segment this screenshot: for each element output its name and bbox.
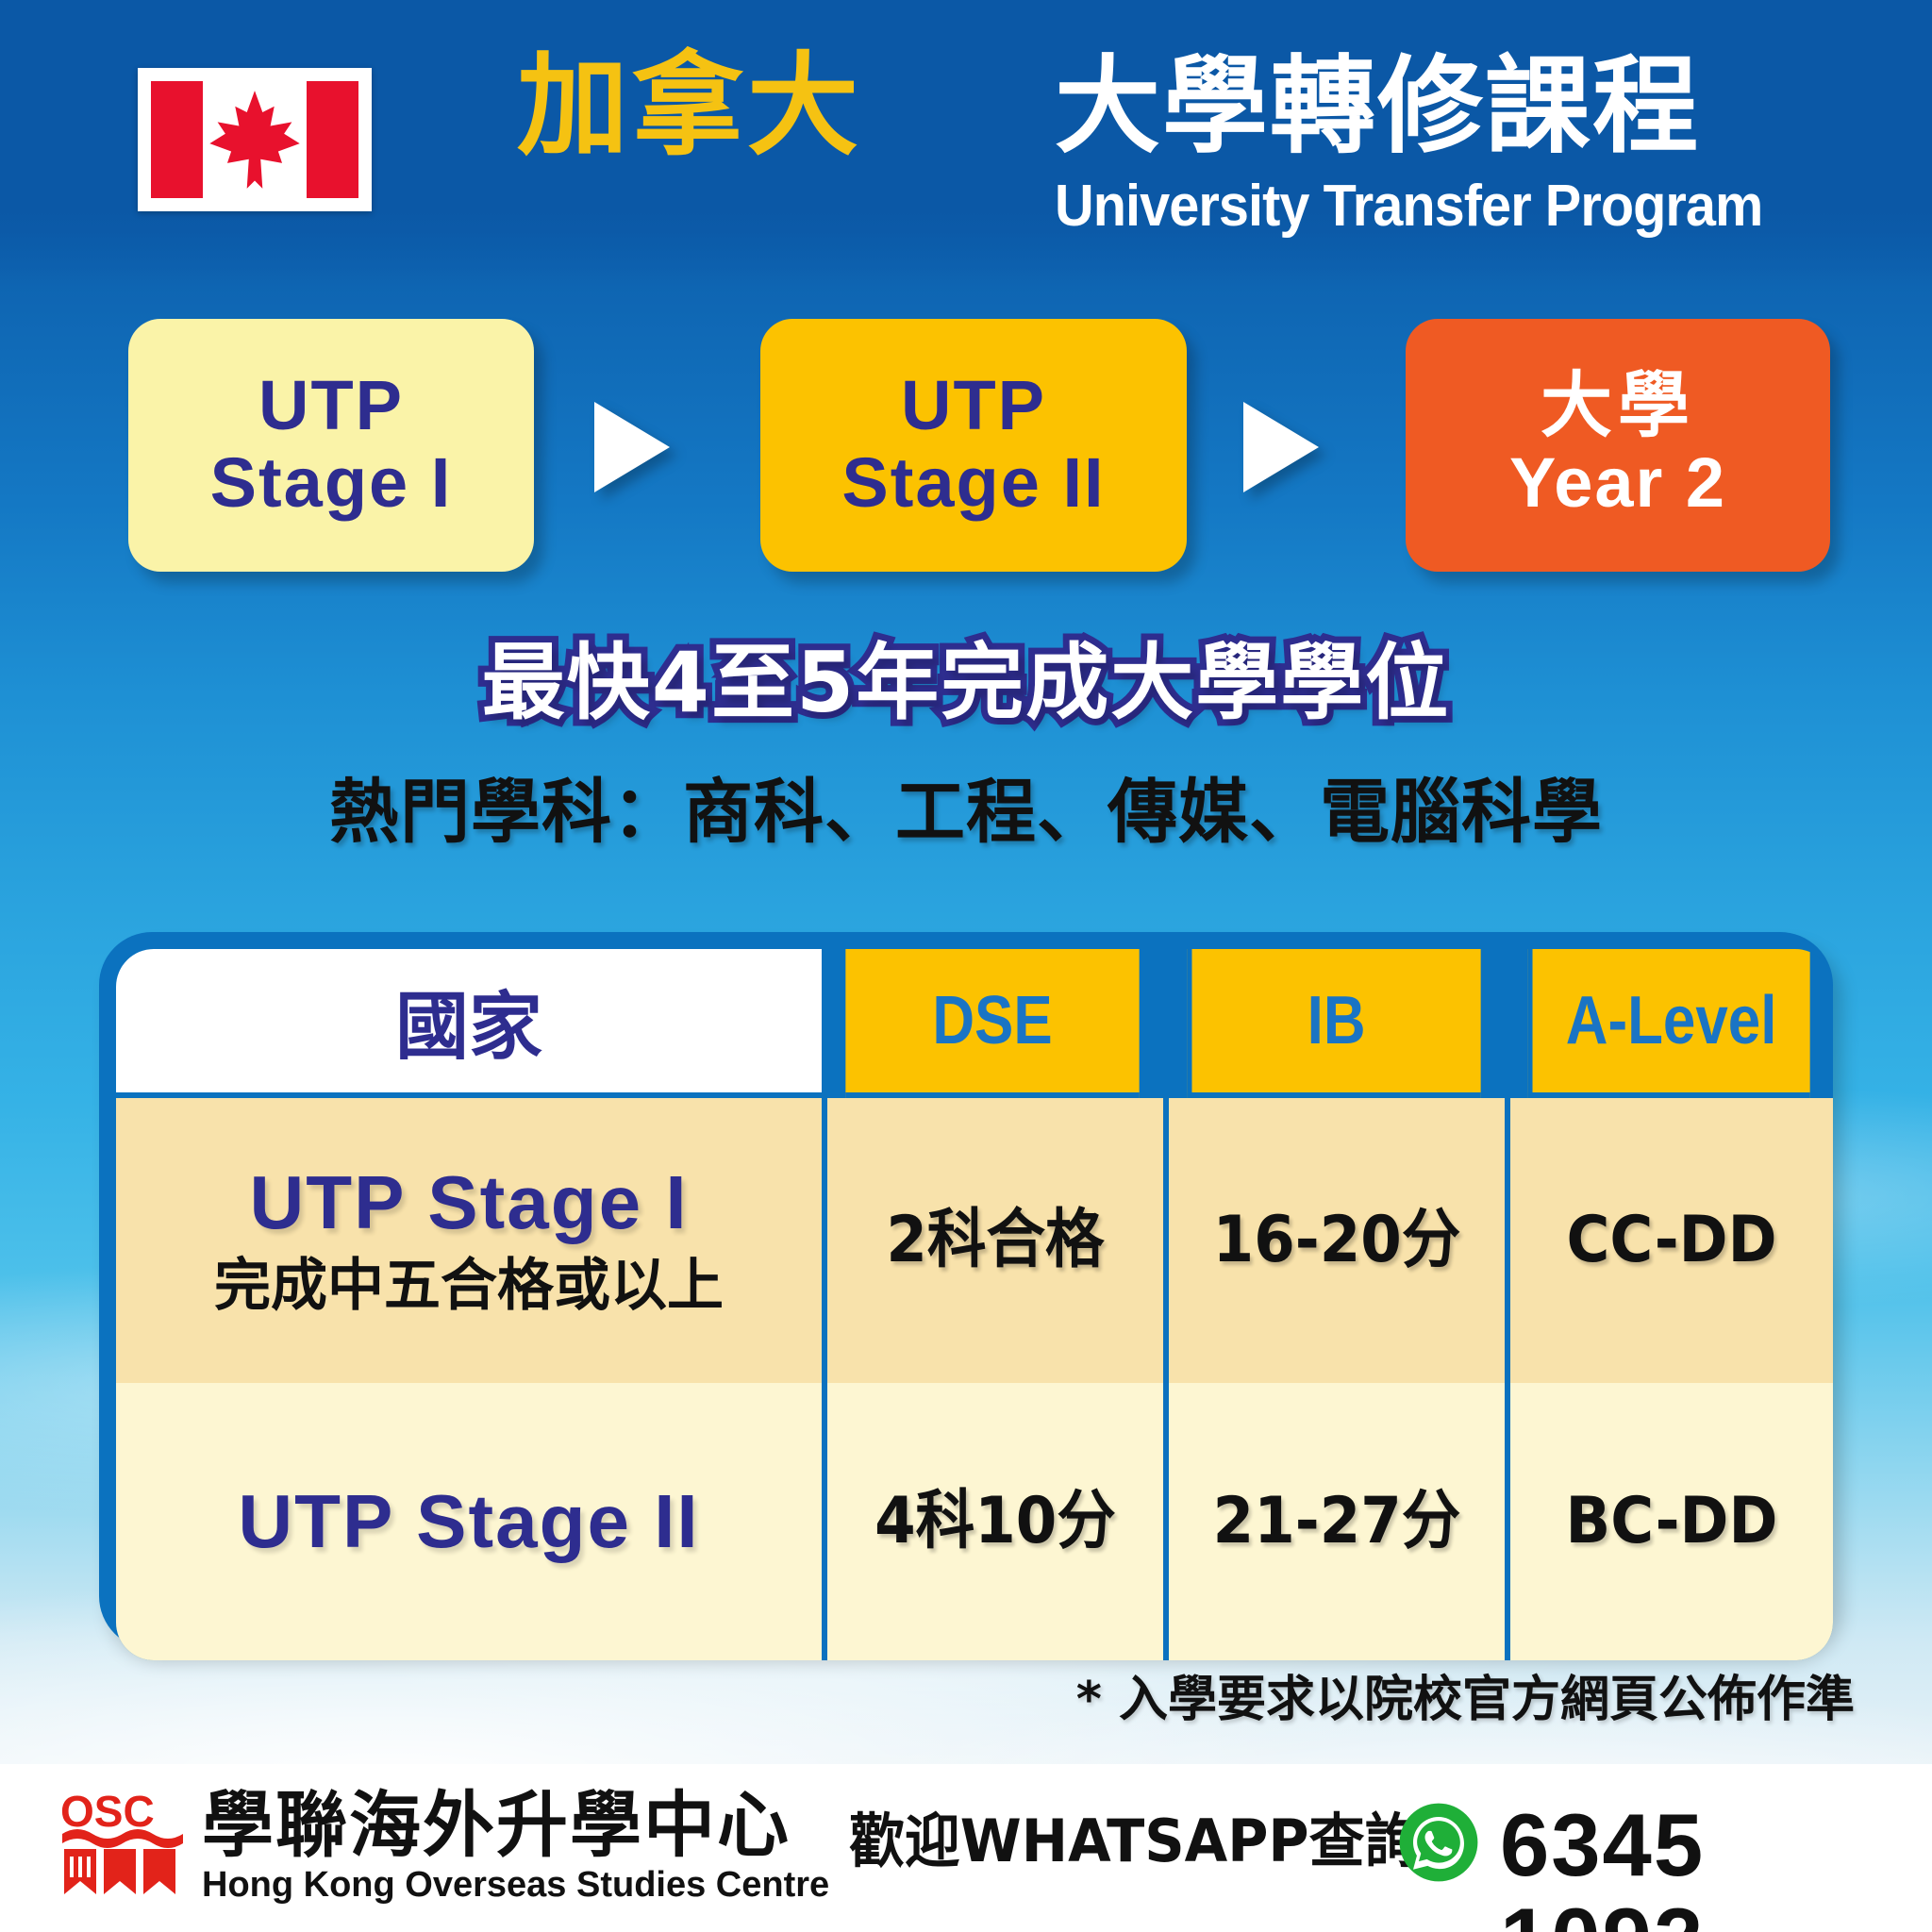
brand-text-block: 學聯海外升學中心 Hong Kong Overseas Studies Cent… (202, 1787, 829, 1906)
flow-step-line2: Year 2 (1509, 443, 1726, 523)
title-program-en: University Transfer Program (1055, 175, 1762, 238)
flow-step-utp-stage-1[interactable]: UTP Stage I (128, 319, 534, 572)
row-alevel-cell: CC-DD (1505, 1098, 1833, 1383)
flow-step-line1: 大學 (1541, 368, 1695, 443)
footnote-text: * 入學要求以院校官方網頁公佈作準 (1076, 1672, 1855, 1728)
row-stage-note: 完成中五合格或以上 (117, 1252, 821, 1320)
brand-name-cn: 學聯海外升學中心 (202, 1787, 829, 1864)
row-dse-value: 2科合格 (841, 1205, 1149, 1276)
column-header-ib: IB (1187, 949, 1480, 1098)
flow-step-line1: UTP (901, 368, 1046, 443)
whatsapp-phone-number[interactable]: 6345 1092 (1500, 1798, 1932, 1932)
whatsapp-label: 歡迎WHATSAPP查詢 (849, 1806, 1420, 1877)
flag-band-left (151, 81, 203, 198)
row-stage-title: UTP Stage II (117, 1480, 821, 1563)
flow-step-line2: Stage I (210, 443, 453, 523)
row-stage-cell: UTP Stage I 完成中五合格或以上 (116, 1098, 822, 1383)
requirements-table-frame: 國家 DSE IB A-Level UTP Stage I 完成中五合格或以上 … (99, 932, 1833, 1649)
row-alevel-value: BC-DD (1524, 1486, 1820, 1557)
canada-flag-icon (138, 68, 372, 211)
header-band: 加拿大 大學轉修課程 University Transfer Program (0, 0, 1932, 288)
flow-step-line1: UTP (258, 368, 404, 443)
title-country: 加拿大 (517, 49, 862, 162)
flag-band-right (307, 81, 358, 198)
poster-canvas: 加拿大 大學轉修課程 University Transfer Program U… (0, 0, 1932, 1932)
row-stage-title: UTP Stage I (117, 1161, 821, 1244)
row-ib-cell: 16-20分 (1163, 1098, 1505, 1383)
flow-step-line2: Stage II (841, 443, 1105, 523)
row-ib-cell: 21-27分 (1163, 1383, 1505, 1660)
flow-step-utp-stage-2[interactable]: UTP Stage II (760, 319, 1187, 572)
triangle-right-icon (594, 402, 670, 492)
column-header-dse: DSE (845, 949, 1139, 1098)
requirements-table: 國家 DSE IB A-Level UTP Stage I 完成中五合格或以上 … (116, 949, 1833, 1660)
row-dse-cell: 4科10分 (822, 1383, 1163, 1660)
triangle-right-icon (1243, 402, 1319, 492)
row-alevel-cell: BC-DD (1505, 1383, 1833, 1660)
svg-text:OSC: OSC (60, 1789, 155, 1836)
row-dse-value: 4科10分 (841, 1486, 1149, 1557)
title-program-cn: 大學轉修課程 (1055, 51, 1700, 162)
row-ib-value: 16-20分 (1183, 1205, 1491, 1276)
headline-text: 最快4至5年完成大學學位 (0, 638, 1932, 728)
row-ib-value: 21-27分 (1183, 1486, 1491, 1557)
popular-subjects-text: 熱門學科：商科、工程、傳媒、電腦科學 (0, 774, 1932, 851)
osc-logo-icon: OSC (58, 1789, 187, 1902)
table-header-row: 國家 DSE IB A-Level (116, 949, 1833, 1098)
table-row: UTP Stage II 4科10分 21-27分 BC-DD (116, 1383, 1833, 1660)
row-alevel-value: CC-DD (1524, 1205, 1820, 1276)
title-block: 加拿大 大學轉修課程 University Transfer Program (517, 45, 1857, 234)
maple-leaf-icon (206, 87, 304, 192)
whatsapp-icon[interactable] (1396, 1800, 1481, 1885)
flow-step-university-year-2[interactable]: 大學 Year 2 (1406, 319, 1830, 572)
table-row: UTP Stage I 完成中五合格或以上 2科合格 16-20分 CC-DD (116, 1098, 1833, 1383)
flow-diagram: UTP Stage I UTP Stage II 大學 Year 2 (0, 319, 1932, 574)
row-stage-cell: UTP Stage II (116, 1383, 822, 1660)
row-dse-cell: 2科合格 (822, 1098, 1163, 1383)
footer-bar: OSC 學聯海外升學中心 Hong Kong Overseas Studies … (0, 1764, 1932, 1932)
column-header-country: 國家 (116, 949, 822, 1098)
brand-name-en: Hong Kong Overseas Studies Centre (202, 1864, 829, 1906)
column-header-alevel: A-Level (1527, 949, 1809, 1098)
